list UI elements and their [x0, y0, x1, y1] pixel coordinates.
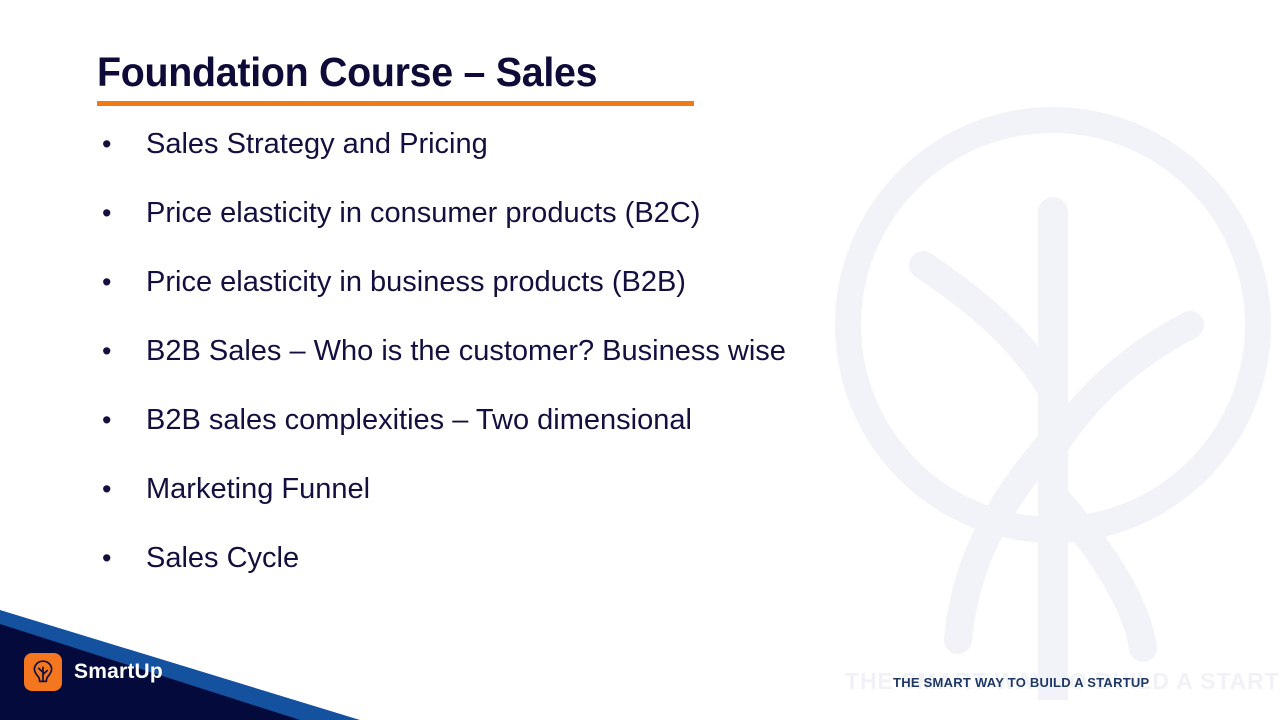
slide-title-text: Foundation Course – Sales: [97, 48, 670, 96]
list-item-label: Sales Strategy and Pricing: [146, 128, 488, 160]
list-item: • B2B Sales – Who is the customer? Busin…: [97, 335, 997, 404]
page-title: Foundation Course – Sales: [97, 48, 694, 106]
bullet-list: • Sales Strategy and Pricing • Price ela…: [97, 128, 997, 611]
bullet-marker-icon: •: [97, 473, 146, 505]
brand-tagline: THE SMART WAY TO BUILD A STARTUP: [893, 675, 1149, 690]
bullet-marker-icon: •: [97, 266, 146, 298]
list-item: • Marketing Funnel: [97, 473, 997, 542]
list-item-label: B2B sales complexities – Two dimensional: [146, 404, 692, 436]
list-item-label: Price elasticity in consumer products (B…: [146, 197, 700, 229]
bullet-marker-icon: •: [97, 128, 146, 160]
list-item: • Price elasticity in business products …: [97, 266, 997, 335]
list-item-label: Price elasticity in business products (B…: [146, 266, 686, 298]
bullet-marker-icon: •: [97, 404, 146, 436]
bullet-marker-icon: •: [97, 335, 146, 367]
bullet-marker-icon: •: [97, 197, 146, 229]
bullet-marker-icon: •: [97, 542, 146, 574]
list-item: • Sales Strategy and Pricing: [97, 128, 997, 197]
brand-logo-lockup[interactable]: SmartUp: [24, 653, 163, 691]
list-item-label: Marketing Funnel: [146, 473, 370, 505]
list-item: • B2B sales complexities – Two dimension…: [97, 404, 997, 473]
title-underline-rule: [97, 101, 694, 106]
list-item-label: B2B Sales – Who is the customer? Busines…: [146, 335, 786, 367]
brand-wordmark: SmartUp: [74, 660, 163, 684]
tree-bulb-icon: [24, 653, 62, 691]
presentation-slide: THE SMART WAY TO BUILD A STARTUP Foundat…: [0, 0, 1280, 720]
list-item: • Price elasticity in consumer products …: [97, 197, 997, 266]
list-item-label: Sales Cycle: [146, 542, 299, 574]
